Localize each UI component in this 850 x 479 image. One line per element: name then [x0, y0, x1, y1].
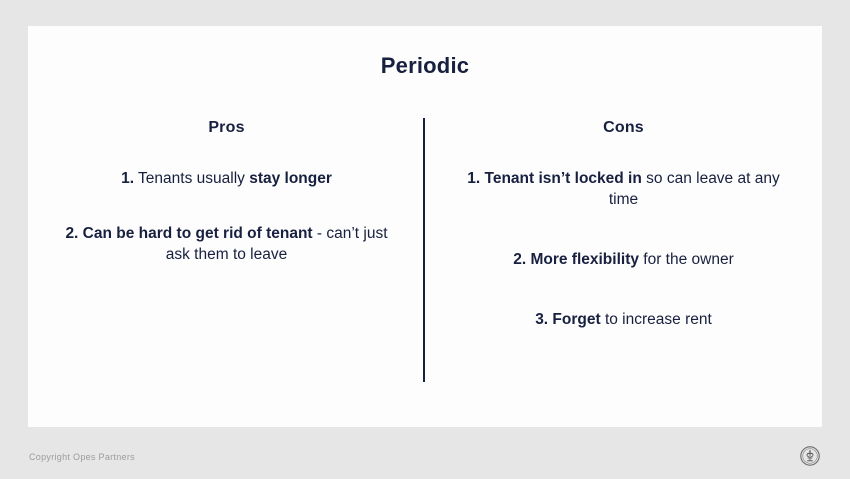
copyright-text: Copyright Opes Partners: [29, 452, 135, 462]
pros-column: Pros 1. Tenants usually stay longer 2. C…: [28, 119, 425, 265]
cons-item-2: 2. More flexibility for the owner: [451, 249, 796, 270]
text-run-bold: 1.: [121, 170, 134, 187]
pros-item-1: 1. Tenants usually stay longer: [56, 168, 397, 189]
text-run-bold: 1. Tenant isn’t locked in: [467, 170, 642, 187]
text-run-bold: 3. Forget: [535, 311, 600, 328]
column-divider: [423, 118, 425, 382]
cons-column: Cons 1. Tenant isn’t locked in so can le…: [425, 119, 822, 330]
text-run-bold: stay longer: [249, 170, 332, 187]
slide-card: Periodic Pros 1. Tenants usually stay lo…: [28, 26, 822, 427]
slide-title: Periodic: [28, 53, 822, 79]
text-run-regular: for the owner: [639, 251, 734, 268]
text-run-bold: 2. Can be hard to get rid of tenant: [65, 225, 312, 242]
cons-heading: Cons: [451, 119, 796, 137]
opes-partners-crest-icon: [799, 445, 821, 467]
cons-item-list: 1. Tenant isn’t locked in so can leave a…: [451, 168, 796, 330]
pros-item-list: 1. Tenants usually stay longer 2. Can be…: [56, 168, 397, 265]
pros-cons-columns: Pros 1. Tenants usually stay longer 2. C…: [28, 119, 822, 330]
text-run-bold: 2. More flexibility: [513, 251, 639, 268]
pros-item-2: 2. Can be hard to get rid of tenant - ca…: [56, 223, 397, 265]
text-run-regular: to increase rent: [601, 311, 712, 328]
text-run-regular: Tenants usually: [134, 170, 249, 187]
cons-item-1: 1. Tenant isn’t locked in so can leave a…: [451, 168, 796, 210]
cons-item-3: 3. Forget to increase rent: [451, 309, 796, 330]
pros-heading: Pros: [56, 119, 397, 137]
